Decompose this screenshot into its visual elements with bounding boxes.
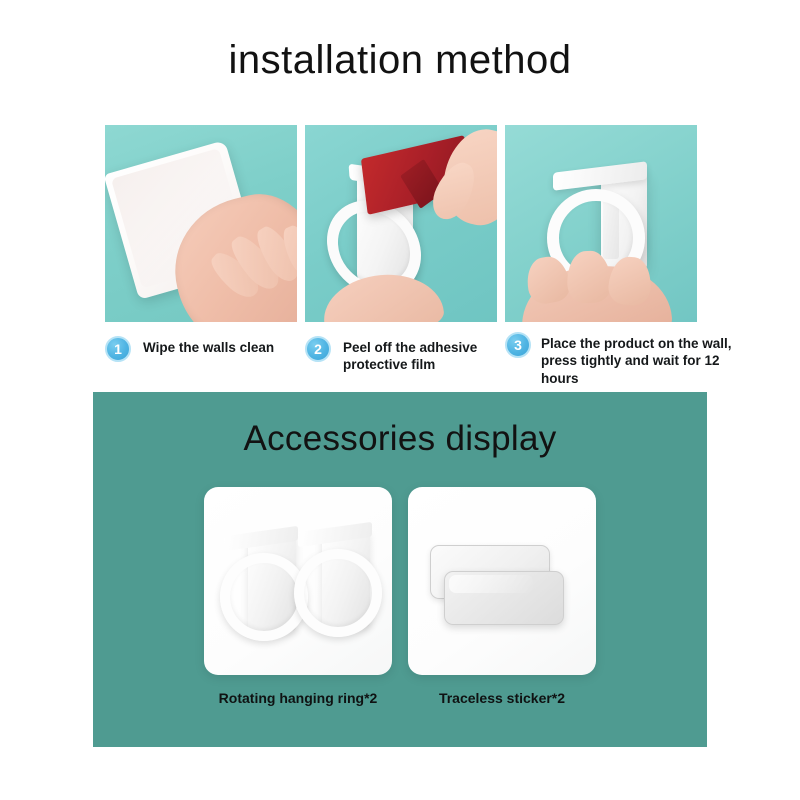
infographic-page: installation method: [0, 0, 800, 800]
accessories-title: Accessories display: [93, 419, 707, 459]
accessory-card-ring-hooks: [204, 487, 392, 675]
step-number-badge: 2: [305, 336, 331, 362]
wipe-wall-photo: [105, 125, 297, 322]
hook-ring-shape: [294, 549, 382, 637]
accessories-labels: Rotating hanging ring*2 Traceless sticke…: [93, 690, 707, 707]
installation-steps: 1 Wipe the walls clean 2 Peel off the ad…: [105, 332, 745, 384]
step-number-badge: 3: [505, 332, 531, 358]
step-label: Place the product on the wall, press tig…: [541, 332, 745, 387]
step-item-3: 3 Place the product on the wall, press t…: [505, 332, 745, 387]
accessory-label-sticker: Traceless sticker*2: [408, 690, 596, 707]
step-item-1: 1 Wipe the walls clean: [105, 336, 274, 362]
press-product-photo: [505, 125, 697, 322]
page-title: installation method: [0, 38, 800, 83]
accessory-card-stickers: [408, 487, 596, 675]
step-number-badge: 1: [105, 336, 131, 362]
step-label: Peel off the adhesive protective film: [343, 336, 477, 374]
adhesive-sticker-shape: [444, 571, 564, 625]
ring-hook-pair-icon: [222, 531, 300, 635]
accessory-label-ring: Rotating hanging ring*2: [204, 690, 392, 707]
peel-film-photo: [305, 125, 497, 322]
step-item-2: 2 Peel off the adhesive protective film: [305, 336, 477, 374]
accessories-cards: [93, 487, 707, 675]
ring-hook-shape: [296, 527, 374, 631]
installation-photo-strip: [105, 125, 698, 322]
accessories-panel: Accessories display Rotati: [93, 392, 707, 747]
step-label: Wipe the walls clean: [143, 336, 274, 356]
